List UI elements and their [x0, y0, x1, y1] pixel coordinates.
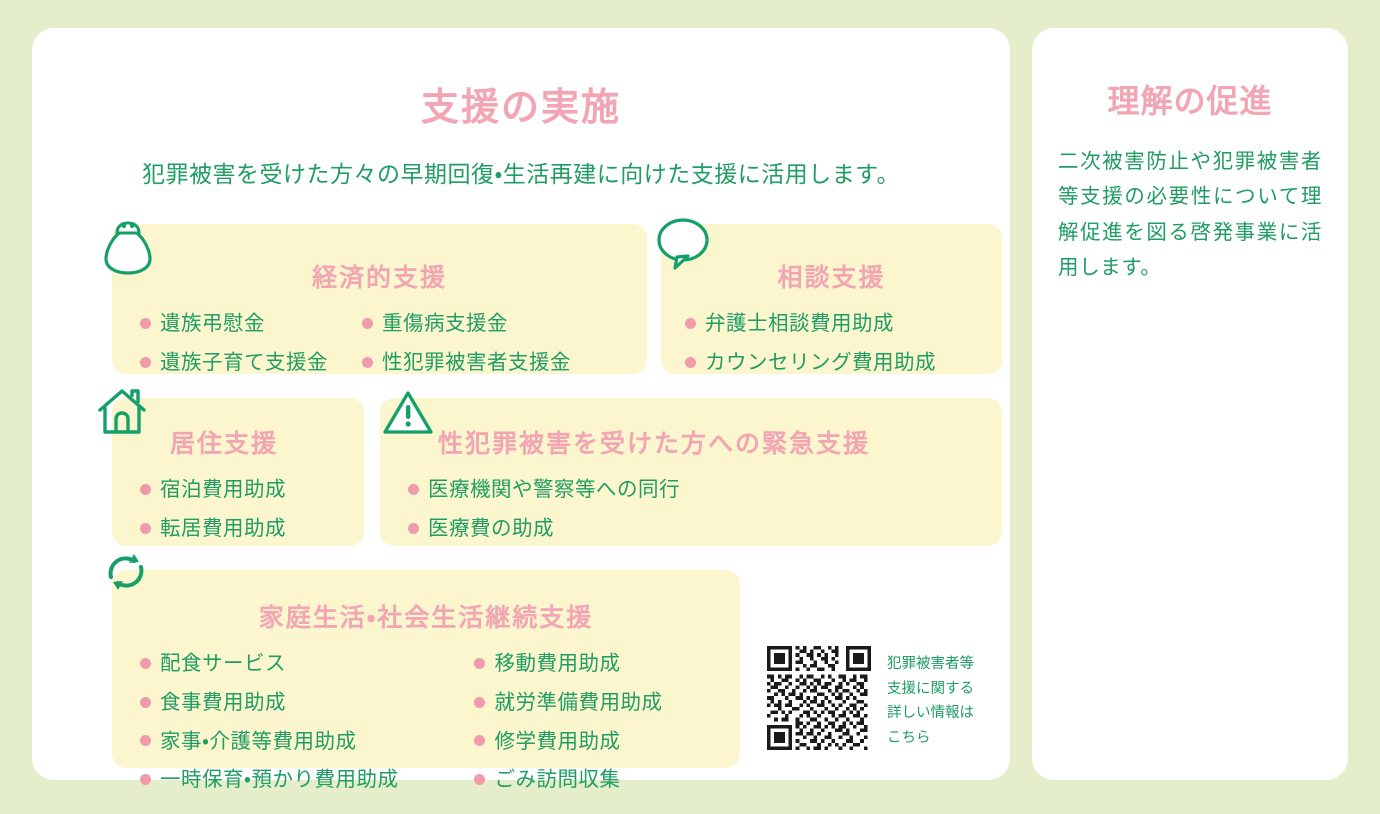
- bullet-dot-icon: [140, 523, 151, 534]
- recycle-arrows-icon: [98, 546, 154, 602]
- list-item: 食事費用助成: [140, 687, 398, 718]
- card-economic-support-title: 経済的支援: [112, 224, 647, 294]
- main-panel: 支援の実施 犯罪被害を受けた方々の早期回復・生活再建に向けた支援に活用します。 …: [32, 28, 1010, 780]
- list-item-label: 宿泊費用助成: [160, 474, 286, 505]
- side-panel-body-text: 二次被害防止や犯罪被害者等支援の必要性について理解促進を図る啓発事業に活用します…: [1058, 144, 1322, 285]
- list-item-label: 医療費の助成: [428, 513, 554, 544]
- card-economic-support: 経済的支援 遺族弔慰金 重傷病支援金 遺族子育て支援金 性犯罪被害者支援金: [112, 224, 647, 374]
- list-item: 医療機関や警察等への同行: [408, 474, 1002, 505]
- list-item: 弁護士相談費用助成: [685, 308, 1002, 339]
- qr-block: 犯罪被害者等 支援に関する 詳しい情報は こちら: [767, 646, 974, 751]
- main-panel-lead-text: 犯罪被害を受けた方々の早期回復・生活再建に向けた支援に活用します。: [32, 155, 1010, 189]
- qr-code-icon[interactable]: [767, 646, 871, 750]
- card-consultation-support-title: 相談支援: [661, 224, 1002, 294]
- bullet-dot-icon: [474, 735, 485, 746]
- bullet-dot-icon: [140, 735, 151, 746]
- list-item-label: カウンセリング費用助成: [705, 347, 936, 378]
- main-panel-title: 支援の実施: [32, 28, 1010, 131]
- list-item: 一時保育・預かり費用助成: [140, 764, 398, 795]
- card-housing-support-title: 居住支援: [112, 398, 364, 460]
- qr-caption-line: 支援に関する: [887, 677, 974, 702]
- bullet-dot-icon: [140, 318, 151, 329]
- list-item-label: 医療機関や警察等への同行: [428, 474, 680, 505]
- bullet-dot-icon: [140, 357, 151, 368]
- bullet-dot-icon: [140, 774, 151, 785]
- card-emergency-support-list: 医療機関や警察等への同行 医療費の助成: [380, 460, 1002, 544]
- list-item: 転居費用助成: [140, 513, 364, 544]
- list-item-label: 配食サービス: [160, 648, 286, 679]
- list-item: カウンセリング費用助成: [685, 347, 1002, 378]
- list-item-label: 遺族弔慰金: [160, 308, 265, 339]
- bullet-dot-icon: [362, 318, 373, 329]
- list-item-label: 性犯罪被害者支援金: [382, 347, 571, 378]
- bullet-dot-icon: [685, 357, 696, 368]
- list-item: 遺族弔慰金: [140, 308, 328, 339]
- bullet-dot-icon: [408, 484, 419, 495]
- card-daily-life-support-list: 配食サービス 移動費用助成 食事費用助成 就労準備費用助成 家事・介護等費用助成…: [112, 634, 740, 795]
- bullet-dot-icon: [474, 697, 485, 708]
- card-consultation-support: 相談支援 弁護士相談費用助成 カウンセリング費用助成: [661, 224, 1002, 374]
- qr-caption-line: こちら: [887, 726, 974, 751]
- warning-triangle-icon: [382, 388, 434, 440]
- list-item: 修学費用助成: [474, 726, 662, 757]
- qr-caption: 犯罪被害者等 支援に関する 詳しい情報は こちら: [887, 646, 974, 751]
- list-item-label: 就労準備費用助成: [494, 687, 662, 718]
- list-item: 移動費用助成: [474, 648, 662, 679]
- bullet-dot-icon: [140, 484, 151, 495]
- list-item: 性犯罪被害者支援金: [362, 347, 571, 378]
- list-item: 医療費の助成: [408, 513, 1002, 544]
- card-consultation-support-list: 弁護士相談費用助成 カウンセリング費用助成: [661, 294, 1002, 378]
- card-housing-support-list: 宿泊費用助成 転居費用助成: [112, 460, 364, 544]
- list-item-label: 弁護士相談費用助成: [705, 308, 894, 339]
- house-icon: [96, 386, 148, 442]
- list-item-label: 移動費用助成: [494, 648, 620, 679]
- list-item-label: 食事費用助成: [160, 687, 286, 718]
- purse-icon: [100, 218, 156, 282]
- qr-caption-line: 犯罪被害者等: [887, 652, 974, 677]
- card-daily-life-support-title: 家庭生活・社会生活継続支援: [112, 570, 740, 634]
- list-item: 家事・介護等費用助成: [140, 726, 398, 757]
- list-item-label: 遺族子育て支援金: [160, 347, 328, 378]
- bullet-dot-icon: [408, 523, 419, 534]
- card-daily-life-support: 家庭生活・社会生活継続支援 配食サービス 移動費用助成 食事費用助成 就労準備費…: [112, 570, 740, 768]
- list-item-label: 家事・介護等費用助成: [160, 726, 356, 757]
- bullet-dot-icon: [140, 697, 151, 708]
- bullet-dot-icon: [474, 658, 485, 669]
- card-economic-support-list: 遺族弔慰金 重傷病支援金 遺族子育て支援金 性犯罪被害者支援金: [112, 294, 647, 378]
- list-item: 遺族子育て支援金: [140, 347, 328, 378]
- side-panel: 理解の促進 二次被害防止や犯罪被害者等支援の必要性について理解促進を図る啓発事業…: [1032, 28, 1348, 780]
- list-item: 重傷病支援金: [362, 308, 571, 339]
- bullet-dot-icon: [685, 318, 696, 329]
- card-emergency-support: 性犯罪被害を受けた方への緊急支援 医療機関や警察等への同行 医療費の助成: [380, 398, 1002, 546]
- bullet-dot-icon: [474, 774, 485, 785]
- card-emergency-support-title: 性犯罪被害を受けた方への緊急支援: [380, 398, 1002, 460]
- list-item: 配食サービス: [140, 648, 398, 679]
- list-item: 宿泊費用助成: [140, 474, 364, 505]
- list-item-label: 修学費用助成: [494, 726, 620, 757]
- speech-bubble-icon: [654, 216, 712, 274]
- list-item: ごみ訪問収集: [474, 764, 662, 795]
- poster-root: 支援の実施 犯罪被害を受けた方々の早期回復・生活再建に向けた支援に活用します。 …: [0, 0, 1380, 814]
- list-item: 就労準備費用助成: [474, 687, 662, 718]
- card-housing-support: 居住支援 宿泊費用助成 転居費用助成: [112, 398, 364, 546]
- list-item-label: 重傷病支援金: [382, 308, 508, 339]
- list-item-label: 一時保育・預かり費用助成: [160, 764, 398, 795]
- list-item-label: 転居費用助成: [160, 513, 286, 544]
- bullet-dot-icon: [362, 357, 373, 368]
- side-panel-title: 理解の促進: [1032, 28, 1348, 122]
- qr-caption-line: 詳しい情報は: [887, 701, 974, 726]
- bullet-dot-icon: [140, 658, 151, 669]
- list-item-label: ごみ訪問収集: [494, 764, 620, 795]
